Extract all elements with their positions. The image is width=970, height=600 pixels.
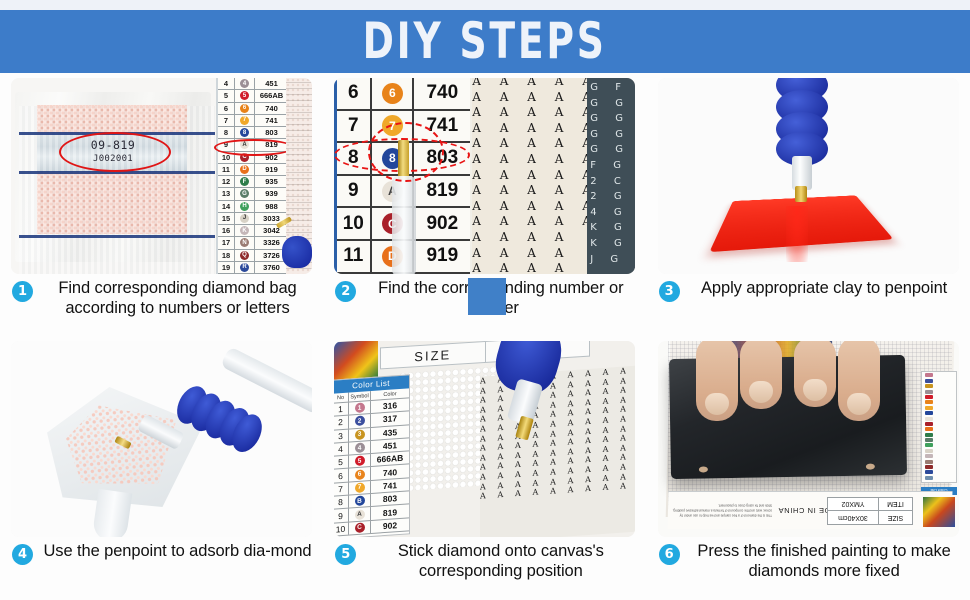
chart-row-symbol: R [235,262,255,273]
chart-row-no: 7 [336,111,372,142]
chart-row-symbol: Q [235,250,255,261]
chart-row: 55666AB [218,90,288,102]
chart-row: 10C902 [218,152,288,164]
color-row-symbol: B [349,494,371,508]
chart-row-no: 4 [218,78,235,89]
step-badge-1: 1 [12,281,33,302]
color-row-symbol: A [349,507,371,521]
color-swatch [925,438,933,442]
chart-row-code: 819 [255,139,288,150]
diamond-bag-image: 09-819 J002001 [15,92,211,262]
chart-row: 77741 [218,115,288,127]
step-3-caption: 3 Apply appropriate clay to penpoint [653,278,965,302]
spec-key-item: ITEM [878,497,912,511]
hand-finger [740,341,782,409]
chart-row-symbol: D [235,164,255,175]
color-row-symbol: 2 [349,414,371,428]
chart-row-no: 6 [336,78,372,109]
fine-print: This is the diamond of a free sample and… [672,503,772,517]
color-swatch [925,476,933,480]
chart-row-no: 9 [218,139,235,150]
highlight-ellipse-icon [59,132,171,172]
step-4-text: Use the penpoint to adsorb dia-mond [41,541,318,561]
chart-row-symbol: N [235,237,255,248]
chart-row-symbol: 6 [372,78,414,109]
chart-row-code: 740 [414,78,470,109]
color-swatch [925,395,933,399]
color-row-no: 4 [334,442,349,455]
color-swatch [925,433,933,437]
chart-row-symbol: F [235,176,255,187]
chart-row-no: 11 [336,241,372,272]
hand-finger [838,341,880,421]
step-6-text: Press the finished painting to make diam… [688,541,965,581]
chart-row: 66740 [336,78,470,111]
top-strip [0,0,970,10]
step-badge-6: 6 [659,544,680,565]
chart-row-symbol: 5 [235,90,255,101]
color-swatch [925,400,933,404]
color-swatch [925,379,933,383]
color-row-no: 6 [334,469,349,482]
chart-row-no: 10 [218,152,235,163]
chart-row: 66740 [218,103,288,115]
color-swatch [925,470,933,474]
chart-row-no: 17 [218,237,235,248]
chart-row-no: 8 [218,127,235,138]
canvas-with-symbols: A A A A A A A A A A A A A A A A J A A A … [472,78,635,274]
color-row-symbol: 1 [349,401,371,415]
color-row-symbol: C [349,521,371,535]
chart-row-no: 16 [218,225,235,236]
color-swatch [925,422,933,426]
color-swatch [925,454,933,458]
color-row-symbol: 7 [349,481,371,495]
color-swatch [925,417,933,421]
color-row-code: 902 [371,518,409,533]
step-5-photo: SIZE 30X40cm A A A A A A A A A A A A A A… [334,341,635,537]
chart-row-code: 740 [255,103,288,114]
diamond-pen-icon [776,78,834,212]
step-1-photo: 09-819 J002001 4445155666AB6674077741888… [11,78,312,274]
color-row-no: 7 [334,482,349,495]
color-swatch [925,390,933,394]
chart-row: 13G939 [218,188,288,200]
step-5-caption: 5 Stick diamond onto canvas's correspond… [329,541,641,581]
step-cell-3: 3 Apply appropriate clay to penpoint [647,74,970,337]
blue-occluding-rectangle [468,278,506,315]
chart-row: 11D919 [218,164,288,176]
page-title: DIY STEPS [363,16,607,66]
hand-finger [696,341,738,421]
color-swatch [925,465,933,469]
chart-row-symbol: K [235,225,255,236]
canvas-symbol-grid: A A A A A A A A A A A A A A A A J A A A … [472,78,592,274]
chart-row-code: 666AB [255,90,288,101]
spec-value-size: 30X40cm [828,512,878,525]
col-symbol: Symbol [349,391,371,402]
chart-row-no: 9 [336,176,372,207]
step-2-photo: 6674077741888039A81910C90211D91912F935 A… [334,78,635,274]
chart-row-symbol: J [235,213,255,224]
diamond-pen-icon [121,347,312,457]
color-row-no: 5 [334,456,349,469]
color-row-symbol: 3 [349,428,371,442]
chart-row-no: 7 [218,115,235,126]
chart-row-symbol: A [235,139,255,150]
chart-row: 14H988 [218,201,288,213]
chart-row-no: 15 [218,213,235,224]
chart-row-code: 935 [255,176,288,187]
chart-row-no: 13 [218,188,235,199]
color-row-symbol: 4 [349,441,371,455]
color-swatch [925,406,933,410]
chart-row: 12F935 [218,176,288,188]
chart-row-code: 803 [255,127,288,138]
color-row-symbol: 6 [349,467,371,481]
swatch-column [921,371,957,483]
chart-row-symbol: G [235,188,255,199]
spec-table: SIZE 30X40cm ITEM YMX02 [827,497,913,525]
step-cell-1: 09-819 J002001 4445155666AB6674077741888… [0,74,323,337]
chart-row-no: 5 [218,90,235,101]
chart-row-no: 11 [218,164,235,175]
step-3-photo [658,78,959,274]
canvas-color-column: G F G G G G G G G G F G 2 C 2 G 4 G K G … [587,78,635,274]
color-row-no: 2 [334,416,349,429]
spec-value-item: YMX02 [828,497,878,511]
chart-row-code: 741 [255,115,288,126]
step-badge-4: 4 [12,544,33,565]
chart-row-no: 10 [336,208,372,239]
step-3-text: Apply appropriate clay to penpoint [688,278,965,298]
chart-row: 88803 [218,127,288,139]
canvas-highlight-ellipse-icon [368,122,444,182]
steps-grid: 09-819 J002001 4445155666AB6674077741888… [0,74,970,600]
chart-row-no: 18 [218,250,235,261]
diamond-pen-icon [276,216,310,268]
step-6-caption: 6 Press the finished painting to make di… [653,541,965,581]
header-banner: DIY STEPS [0,10,970,73]
chart-row-symbol: 6 [235,103,255,114]
chart-row-symbol: 7 [235,115,255,126]
color-row-no: 9 [334,509,349,522]
step-1-text: Find corresponding diamond bag according… [41,278,318,318]
step-cell-6: Color List This is the diamond of a free… [647,337,970,600]
chart-row-no: 6 [218,103,235,114]
design-thumbnail [334,341,378,380]
color-swatch [925,373,933,377]
chart-row-symbol: 4 [235,78,255,89]
diy-steps-infographic: DIY STEPS 09-819 [0,0,970,600]
color-swatch [925,443,933,447]
hand-finger [794,341,836,407]
color-row-no: 1 [334,403,349,416]
step-5-text: Stick diamond onto canvas's correspondin… [364,541,641,581]
chart-row-code: 451 [255,78,288,89]
color-swatch [925,460,933,464]
color-swatch [925,411,933,415]
step-badge-5: 5 [335,544,356,565]
size-label: SIZE [381,345,485,366]
chart-row-code: 902 [255,152,288,163]
chart-row-code: 939 [255,188,288,199]
color-row-no: 10 [334,522,349,535]
step-4-caption: 4 Use the penpoint to adsorb dia-mond [6,541,318,565]
chart-row: 44451 [218,78,288,90]
design-thumbnail [923,497,955,527]
step-badge-2: 2 [335,281,356,302]
color-swatch [925,449,933,453]
chart-row-symbol: C [235,152,255,163]
chart-row-symbol: H [235,201,255,212]
color-row-no: 8 [334,496,349,509]
chart-row-code: 919 [255,164,288,175]
color-swatch [925,384,933,388]
diamond-pen-icon [484,341,574,459]
step-6-photo: Color List This is the diamond of a free… [658,341,959,537]
step-4-photo [11,341,312,537]
chart-row-symbol: 8 [235,127,255,138]
step-cell-5: SIZE 30X40cm A A A A A A A A A A A A A A… [323,337,646,600]
color-row-no: 3 [334,429,349,442]
color-list-table: Color List No Symbol Color 1131622317334… [334,374,410,537]
spec-key-size: SIZE [878,512,912,525]
chart-row-no: 14 [218,201,235,212]
step-cell-4: 4 Use the penpoint to adsorb dia-mond [0,337,323,600]
chart-row-no: 12 [218,176,235,187]
chart-row-code: 988 [255,201,288,212]
step-badge-3: 3 [659,281,680,302]
chart-row: 9A819 [218,139,288,151]
chart-row-no: 19 [218,262,235,273]
color-row-symbol: 5 [349,454,371,468]
color-swatch [925,427,933,431]
step-1-caption: 1 Find corresponding diamond bag accordi… [6,278,318,318]
col-no: No [334,393,349,403]
